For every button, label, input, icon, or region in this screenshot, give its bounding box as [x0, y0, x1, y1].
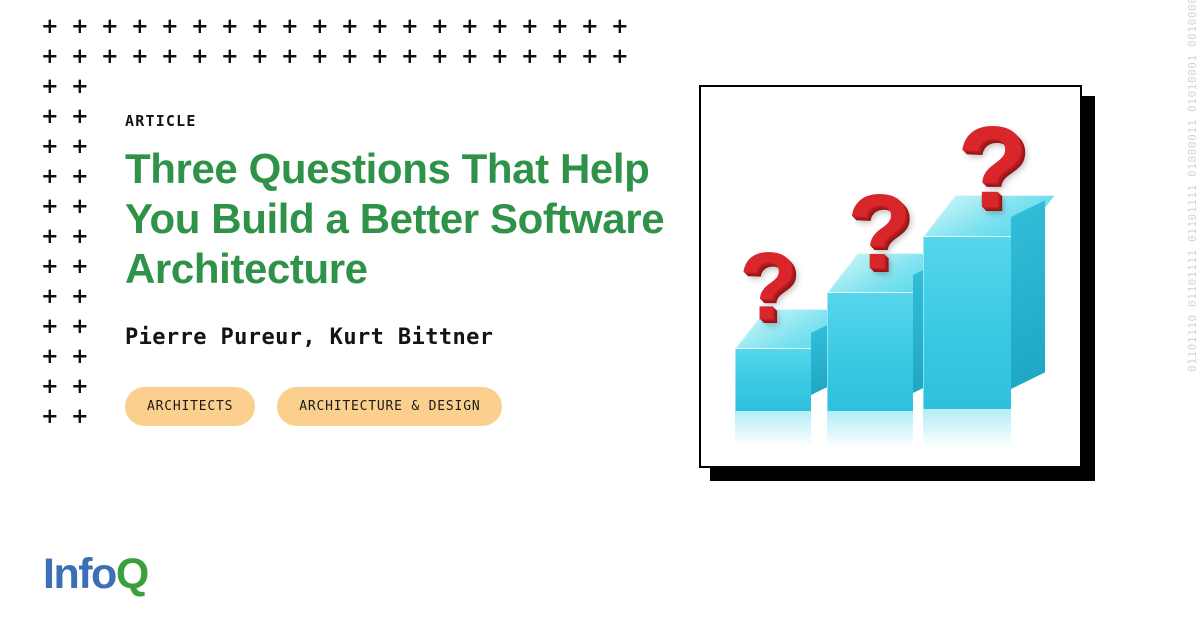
- plus-icon: +: [71, 311, 101, 341]
- plus-icon: +: [221, 11, 251, 41]
- plus-icon: +: [581, 11, 611, 41]
- plus-icon: +: [41, 341, 71, 371]
- plus-icon: +: [161, 11, 191, 41]
- plus-icon: +: [71, 131, 101, 161]
- plus-icon: +: [41, 371, 71, 401]
- article-content: ARTICLE Three Questions That Help You Bu…: [125, 112, 695, 426]
- plus-pattern-row: ++++++++++++++++++++: [41, 41, 661, 71]
- plus-icon: +: [71, 161, 101, 191]
- question-mark-icon-2: ?: [847, 179, 912, 285]
- hero-image-card: ? ? ?: [699, 85, 1095, 483]
- plus-icon: +: [581, 41, 611, 71]
- plus-icon: +: [131, 11, 161, 41]
- plus-icon: +: [131, 41, 161, 71]
- question-mark-icon-3: ?: [957, 109, 1028, 225]
- hero-card-frame: ? ? ?: [699, 85, 1082, 468]
- plus-icon: +: [521, 11, 551, 41]
- share-card: ++++++++++++++++++++++++++++++++++++++++…: [0, 0, 1200, 630]
- content-type-label: ARTICLE: [125, 112, 695, 130]
- infoq-logo[interactable]: InfoQ: [43, 553, 148, 596]
- plus-icon: +: [341, 41, 371, 71]
- plus-icon: +: [371, 41, 401, 71]
- plus-icon: +: [311, 41, 341, 71]
- plus-icon: +: [71, 41, 101, 71]
- plus-icon: +: [41, 41, 71, 71]
- plus-icon: +: [191, 11, 221, 41]
- plus-icon: +: [551, 41, 581, 71]
- tag-pill-architects[interactable]: ARCHITECTS: [125, 387, 255, 426]
- plus-icon: +: [311, 11, 341, 41]
- plus-icon: +: [101, 41, 131, 71]
- plus-icon: +: [431, 11, 461, 41]
- plus-icon: +: [71, 341, 101, 371]
- plus-icon: +: [521, 41, 551, 71]
- plus-icon: +: [71, 101, 101, 131]
- question-mark-icon-1: ?: [739, 239, 798, 335]
- plus-pattern-row: ++: [41, 71, 661, 101]
- article-headline: Three Questions That Help You Build a Be…: [125, 144, 695, 294]
- plus-icon: +: [41, 311, 71, 341]
- hero-illustration: ? ? ?: [701, 87, 1080, 466]
- plus-icon: +: [71, 191, 101, 221]
- plus-icon: +: [71, 71, 101, 101]
- plus-icon: +: [71, 371, 101, 401]
- plus-icon: +: [281, 11, 311, 41]
- plus-icon: +: [191, 41, 221, 71]
- plus-icon: +: [431, 41, 461, 71]
- plus-icon: +: [371, 11, 401, 41]
- plus-icon: +: [71, 251, 101, 281]
- plus-icon: +: [41, 161, 71, 191]
- binary-strip-text: 01101110 01101111 01101111 01000011 0101…: [1186, 0, 1199, 372]
- plus-pattern-row: ++++++++++++++++++++: [41, 11, 661, 41]
- plus-icon: +: [41, 11, 71, 41]
- plus-icon: +: [71, 281, 101, 311]
- plus-icon: +: [281, 41, 311, 71]
- binary-strip-decoration: 01101110 01101111 01101111 01000011 0101…: [1156, 0, 1200, 630]
- plus-icon: +: [71, 221, 101, 251]
- plus-icon: +: [41, 221, 71, 251]
- plus-icon: +: [41, 71, 71, 101]
- plus-icon: +: [341, 11, 371, 41]
- plus-icon: +: [41, 101, 71, 131]
- plus-icon: +: [401, 11, 431, 41]
- plus-icon: +: [41, 281, 71, 311]
- logo-text-q: Q: [116, 550, 148, 598]
- plus-icon: +: [71, 11, 101, 41]
- plus-icon: +: [41, 251, 71, 281]
- plus-icon: +: [491, 11, 521, 41]
- plus-icon: +: [251, 41, 281, 71]
- plus-icon: +: [161, 41, 191, 71]
- plus-icon: +: [461, 11, 491, 41]
- tag-list: ARCHITECTS ARCHITECTURE & DESIGN: [125, 387, 695, 426]
- article-authors: Pierre Pureur, Kurt Bittner: [125, 325, 695, 350]
- tag-pill-architecture-and-design[interactable]: ARCHITECTURE & DESIGN: [277, 387, 502, 426]
- plus-icon: +: [611, 41, 641, 71]
- plus-icon: +: [71, 401, 101, 431]
- plus-icon: +: [101, 11, 131, 41]
- plus-icon: +: [41, 401, 71, 431]
- plus-icon: +: [491, 41, 521, 71]
- plus-icon: +: [611, 11, 641, 41]
- plus-icon: +: [41, 191, 71, 221]
- plus-icon: +: [461, 41, 491, 71]
- plus-icon: +: [251, 11, 281, 41]
- logo-text-info: Info: [43, 550, 116, 598]
- plus-icon: +: [401, 41, 431, 71]
- plus-icon: +: [221, 41, 251, 71]
- plus-icon: +: [551, 11, 581, 41]
- plus-icon: +: [41, 131, 71, 161]
